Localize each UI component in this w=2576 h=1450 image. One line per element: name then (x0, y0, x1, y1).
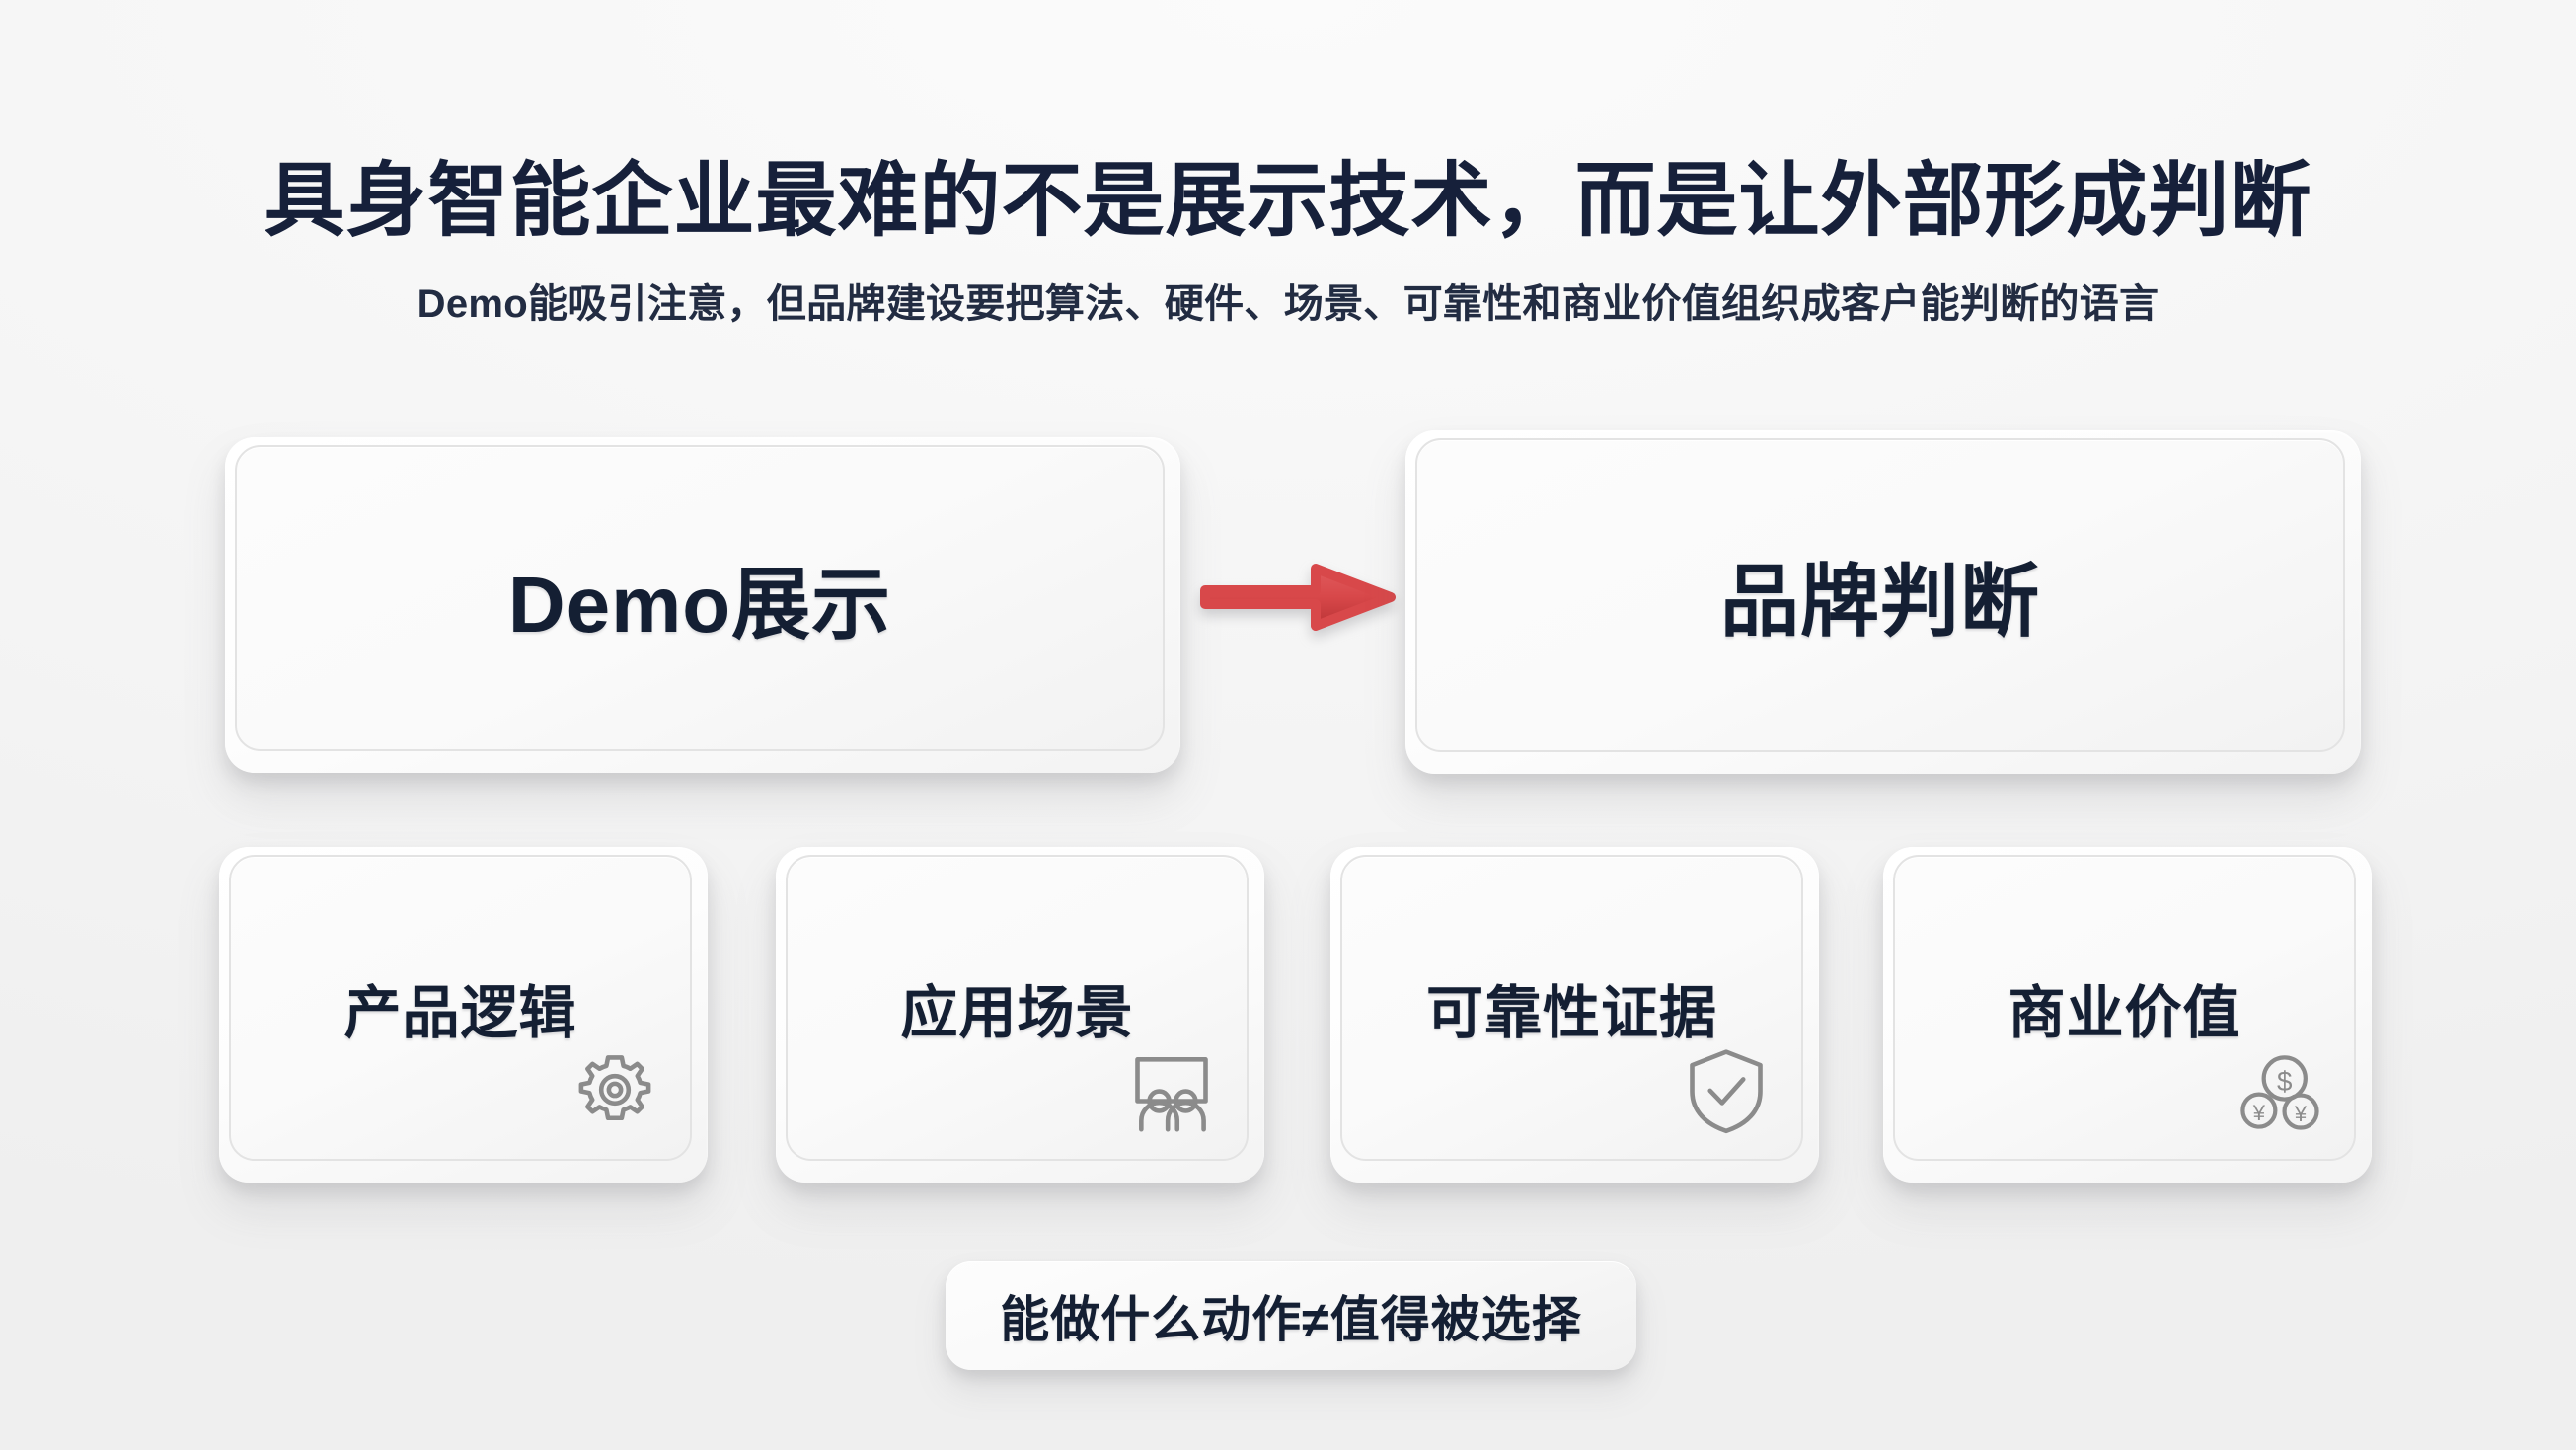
svg-text:¥: ¥ (2252, 1101, 2266, 1125)
footer-note-text: 能做什么动作≠值得被选择 (1000, 1280, 1581, 1351)
pillar-label: 商业价值 (2008, 966, 2240, 1049)
page-subtitle: Demo能吸引注意，但品牌建设要把算法、硬件、场景、可靠性和商业价值组织成客户能… (0, 271, 2576, 329)
header: 具身智能企业最难的不是展示技术，而是让外部形成判断 Demo能吸引注意，但品牌建… (0, 158, 2576, 329)
pillar-label: 应用场景 (900, 966, 1133, 1049)
flow-card-demo-label: Demo展示 (508, 541, 891, 655)
flow-card-demo-face: Demo展示 (235, 445, 1165, 751)
pillar-card-application-scene-face: 应用场景 (786, 855, 1249, 1161)
gear-icon (569, 1044, 660, 1135)
flow-card-demo[interactable]: Demo展示 (225, 437, 1180, 773)
footer-note-pill: 能做什么动作≠值得被选择 (946, 1261, 1636, 1370)
pillar-card-reliability-evidence[interactable]: 可靠性证据 (1330, 847, 1819, 1183)
flow-card-brand-label: 品牌判断 (1720, 538, 2040, 652)
pillar-card-business-value[interactable]: 商业价值 $ ¥ ¥ (1883, 847, 2372, 1183)
page-title: 具身智能企业最难的不是展示技术，而是让外部形成判断 (0, 158, 2576, 246)
slide-canvas: 具身智能企业最难的不是展示技术，而是让外部形成判断 Demo能吸引注意，但品牌建… (0, 0, 2576, 1450)
coins-icon: $ ¥ ¥ (2234, 1044, 2324, 1135)
pillar-card-business-value-face: 商业价值 $ ¥ ¥ (1893, 855, 2356, 1161)
shield-check-icon (1681, 1044, 1772, 1135)
arrow-right-icon (1199, 553, 1397, 642)
pillar-card-product-logic-face: 产品逻辑 (229, 855, 692, 1161)
pillar-card-reliability-evidence-face: 可靠性证据 (1340, 855, 1803, 1161)
presentation-people-icon (1126, 1044, 1217, 1135)
pillar-label: 产品逻辑 (343, 966, 576, 1049)
flow-card-brand[interactable]: 品牌判断 (1405, 430, 2361, 774)
pillar-card-application-scene[interactable]: 应用场景 (776, 847, 1264, 1183)
flow-card-brand-face: 品牌判断 (1415, 438, 2345, 752)
pillar-label: 可靠性证据 (1426, 966, 1717, 1049)
pillar-card-product-logic[interactable]: 产品逻辑 (219, 847, 708, 1183)
svg-text:¥: ¥ (2294, 1102, 2308, 1126)
svg-text:$: $ (2277, 1066, 2292, 1097)
